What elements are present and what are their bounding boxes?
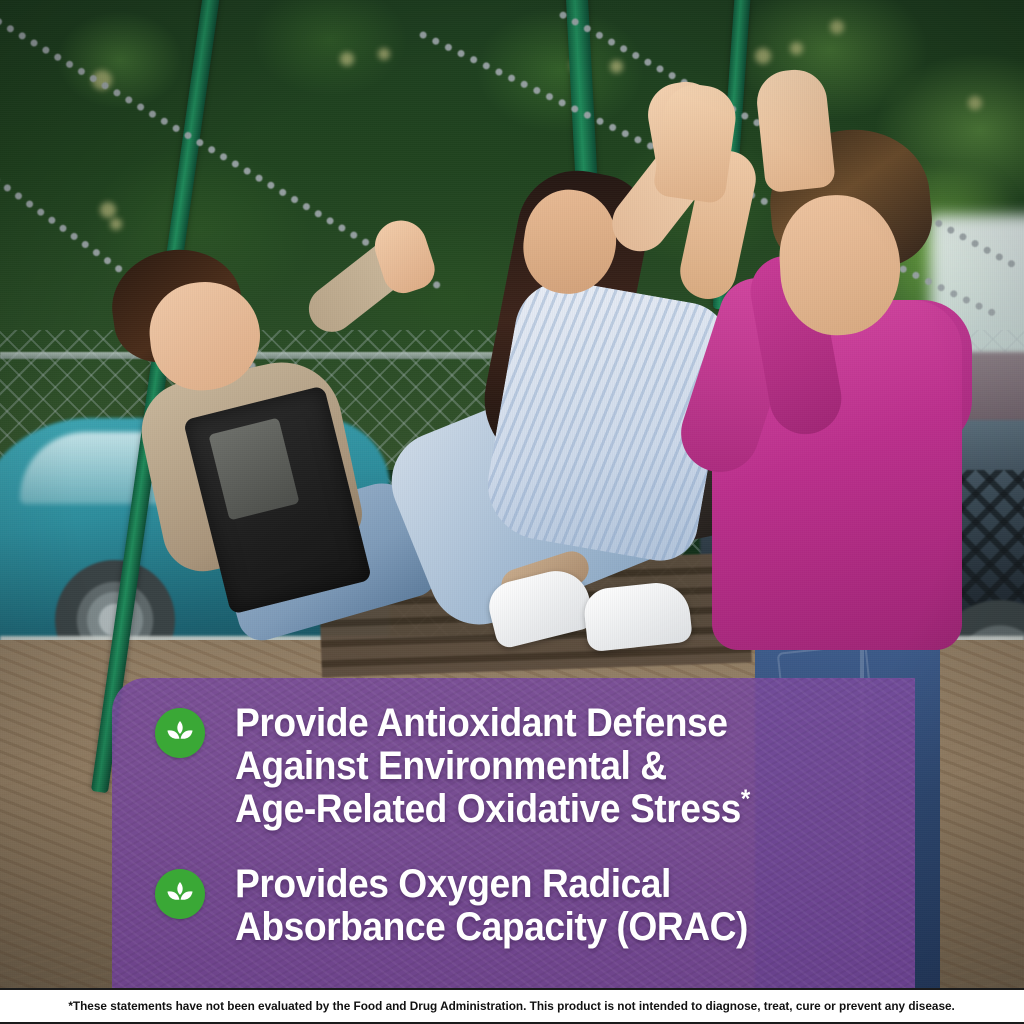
bokeh-light xyxy=(968,96,982,110)
benefit-item: Provide Antioxidant Defense Against Envi… xyxy=(155,702,789,831)
leaf-icon xyxy=(155,869,205,919)
bokeh-light xyxy=(830,20,844,34)
bokeh-light xyxy=(610,60,623,73)
benefit-text: Provides Oxygen Radical Absorbance Capac… xyxy=(235,863,748,949)
leaf-icon xyxy=(155,708,205,758)
disclaimer-footer: *These statements have not been evaluate… xyxy=(0,988,1024,1024)
woman-sneaker xyxy=(582,580,693,653)
product-benefits-ad: Provide Antioxidant Defense Against Envi… xyxy=(0,0,1024,1024)
benefits-list: Provide Antioxidant Defense Against Envi… xyxy=(112,678,915,988)
bokeh-light xyxy=(378,48,390,60)
bokeh-light xyxy=(340,52,354,66)
disclaimer-text: *These statements have not been evaluate… xyxy=(69,999,955,1013)
benefit-text: Provide Antioxidant Defense Against Envi… xyxy=(235,702,750,831)
benefits-panel: Provide Antioxidant Defense Against Envi… xyxy=(112,678,915,988)
bokeh-light xyxy=(100,202,116,218)
bokeh-light xyxy=(755,48,771,64)
asterisk-marker: * xyxy=(741,784,750,814)
benefit-text-line: Provides Oxygen Radical Absorbance Capac… xyxy=(235,862,748,949)
benefit-item: Provides Oxygen Radical Absorbance Capac… xyxy=(155,863,787,949)
bokeh-light xyxy=(790,42,803,55)
benefit-text-line: Provide Antioxidant Defense Against Envi… xyxy=(235,701,741,831)
bokeh-light xyxy=(110,218,122,230)
